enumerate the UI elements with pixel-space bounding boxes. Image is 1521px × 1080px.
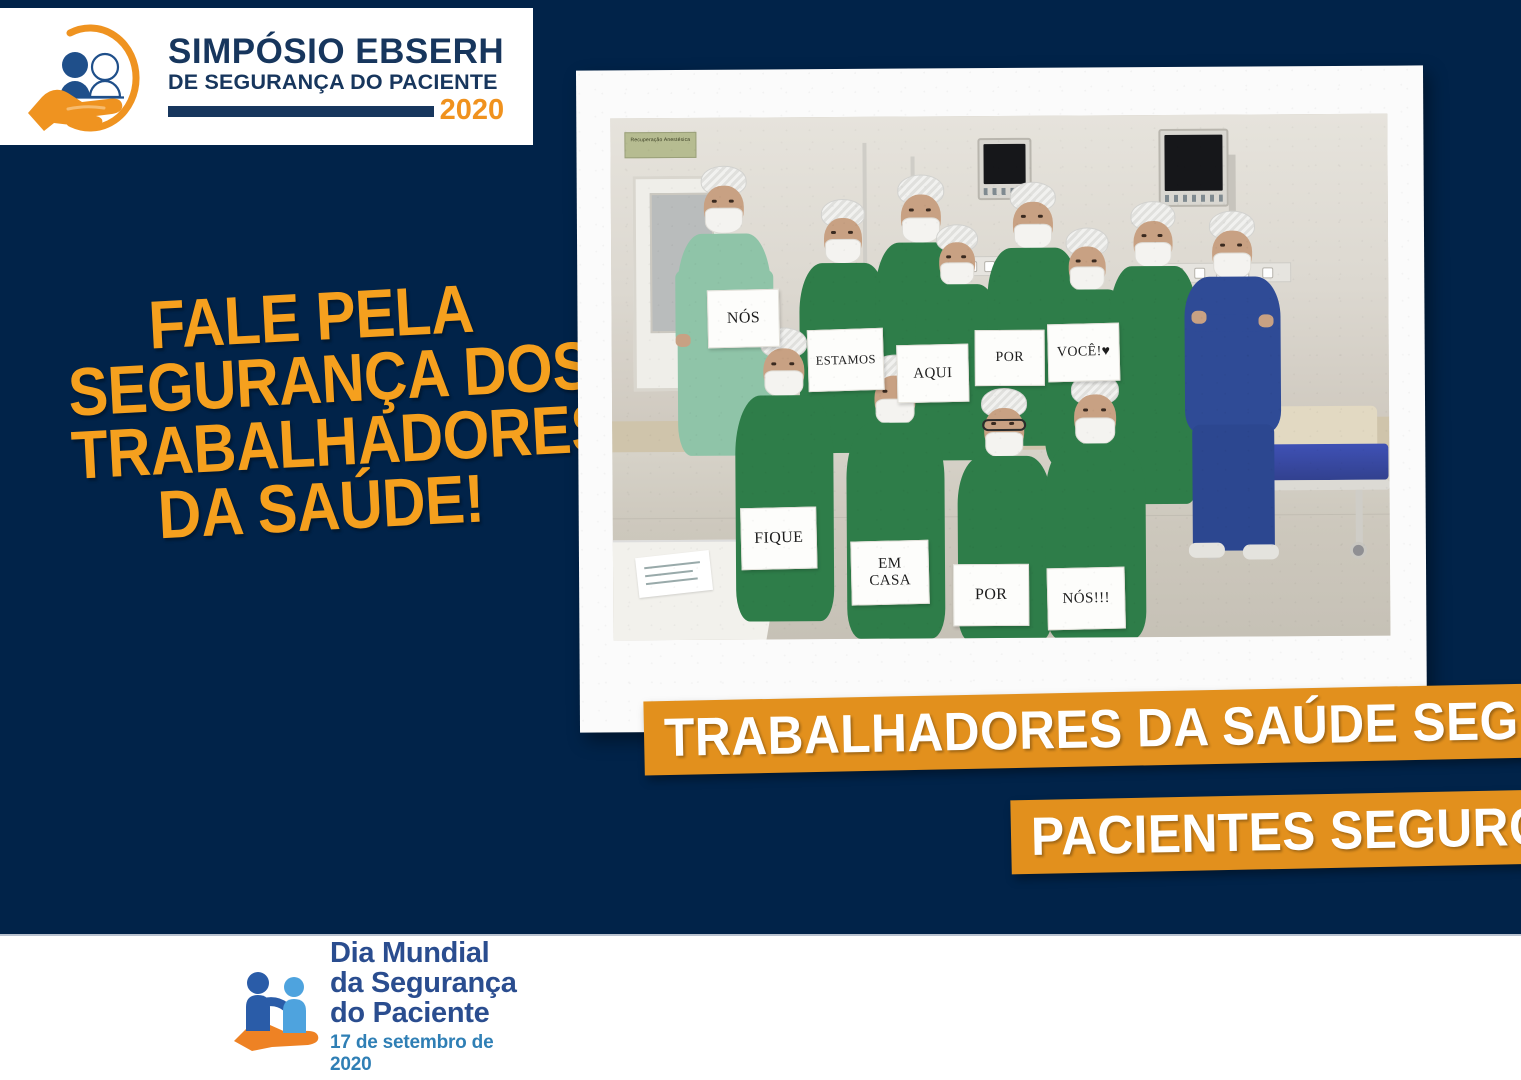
- sign-em-casa: EM CASA: [850, 540, 929, 606]
- poster-canvas: SIMPÓSIO EBSERH DE SEGURANÇA DO PACIENTE…: [0, 0, 1521, 1080]
- person-back-8-blue-scrubs: [1179, 210, 1287, 563]
- sign-nos: NÓS: [707, 289, 780, 349]
- sign-estamos: ESTAMOS: [807, 328, 885, 392]
- arm: [675, 270, 691, 344]
- footer-bar: Dia Mundial da Segurança do Paciente 17 …: [0, 934, 1521, 1080]
- sign-fique: FIQUE: [740, 506, 817, 570]
- trousers: [1192, 424, 1275, 550]
- simposio-title-line2: DE SEGURANÇA DO PACIENTE: [168, 70, 504, 95]
- dia-mundial-logo: Dia Mundial da Segurança do Paciente 17 …: [232, 946, 532, 1068]
- simposio-divider: [168, 106, 434, 117]
- patient-monitor-2: [1158, 129, 1228, 207]
- dia-mundial-text: Dia Mundial da Segurança do Paciente 17 …: [324, 938, 532, 1076]
- team-photo: Recuperação Anestésica: [610, 114, 1390, 641]
- polaroid-frame: Recuperação Anestésica: [576, 65, 1427, 732]
- simposio-logo-card: SIMPÓSIO EBSERH DE SEGURANÇA DO PACIENTE…: [0, 8, 533, 145]
- dia-mundial-line1: Dia Mundial: [330, 938, 532, 968]
- simposio-year: 2020: [440, 98, 505, 123]
- sign-aqui: AQUI: [896, 344, 969, 404]
- banner-line-1-text: TRABALHADORES DA SAÚDE SEGUROS,: [664, 691, 1521, 765]
- page-title: FALE PELA SEGURANÇA DOS TRABALHADORES DA…: [30, 272, 602, 554]
- sign-voce: VOCÊ!♥: [1047, 323, 1120, 383]
- papers-on-table: [635, 550, 713, 598]
- sign-nos-3: NÓS!!!: [1047, 567, 1126, 631]
- sign-por: POR: [975, 330, 1045, 386]
- sign-por-2: POR: [953, 564, 1029, 626]
- room-sign: Recuperação Anestésica: [624, 132, 696, 158]
- dia-mundial-date: 17 de setembro de 2020: [330, 1032, 532, 1076]
- dia-mundial-line2: da Segurança: [330, 968, 532, 998]
- simposio-logo-text: SIMPÓSIO EBSERH DE SEGURANÇA DO PACIENTE…: [164, 30, 504, 122]
- banner-line-2-text: PACIENTES SEGUROS: [1031, 799, 1521, 864]
- two-people-on-hand-icon: [232, 961, 324, 1053]
- banner-line-1: TRABALHADORES DA SAÚDE SEGUROS,: [643, 679, 1521, 776]
- banner-line-2: PACIENTES SEGUROS: [1010, 788, 1521, 875]
- hand-holding-two-people-icon: [12, 17, 164, 137]
- dia-mundial-line3: do Paciente: [330, 998, 532, 1028]
- simposio-title-line1: SIMPÓSIO EBSERH: [168, 34, 504, 69]
- banner-group: TRABALHADORES DA SAÚDE SEGUROS, PACIENTE…: [0, 690, 1521, 890]
- glasses-icon: [982, 419, 1026, 431]
